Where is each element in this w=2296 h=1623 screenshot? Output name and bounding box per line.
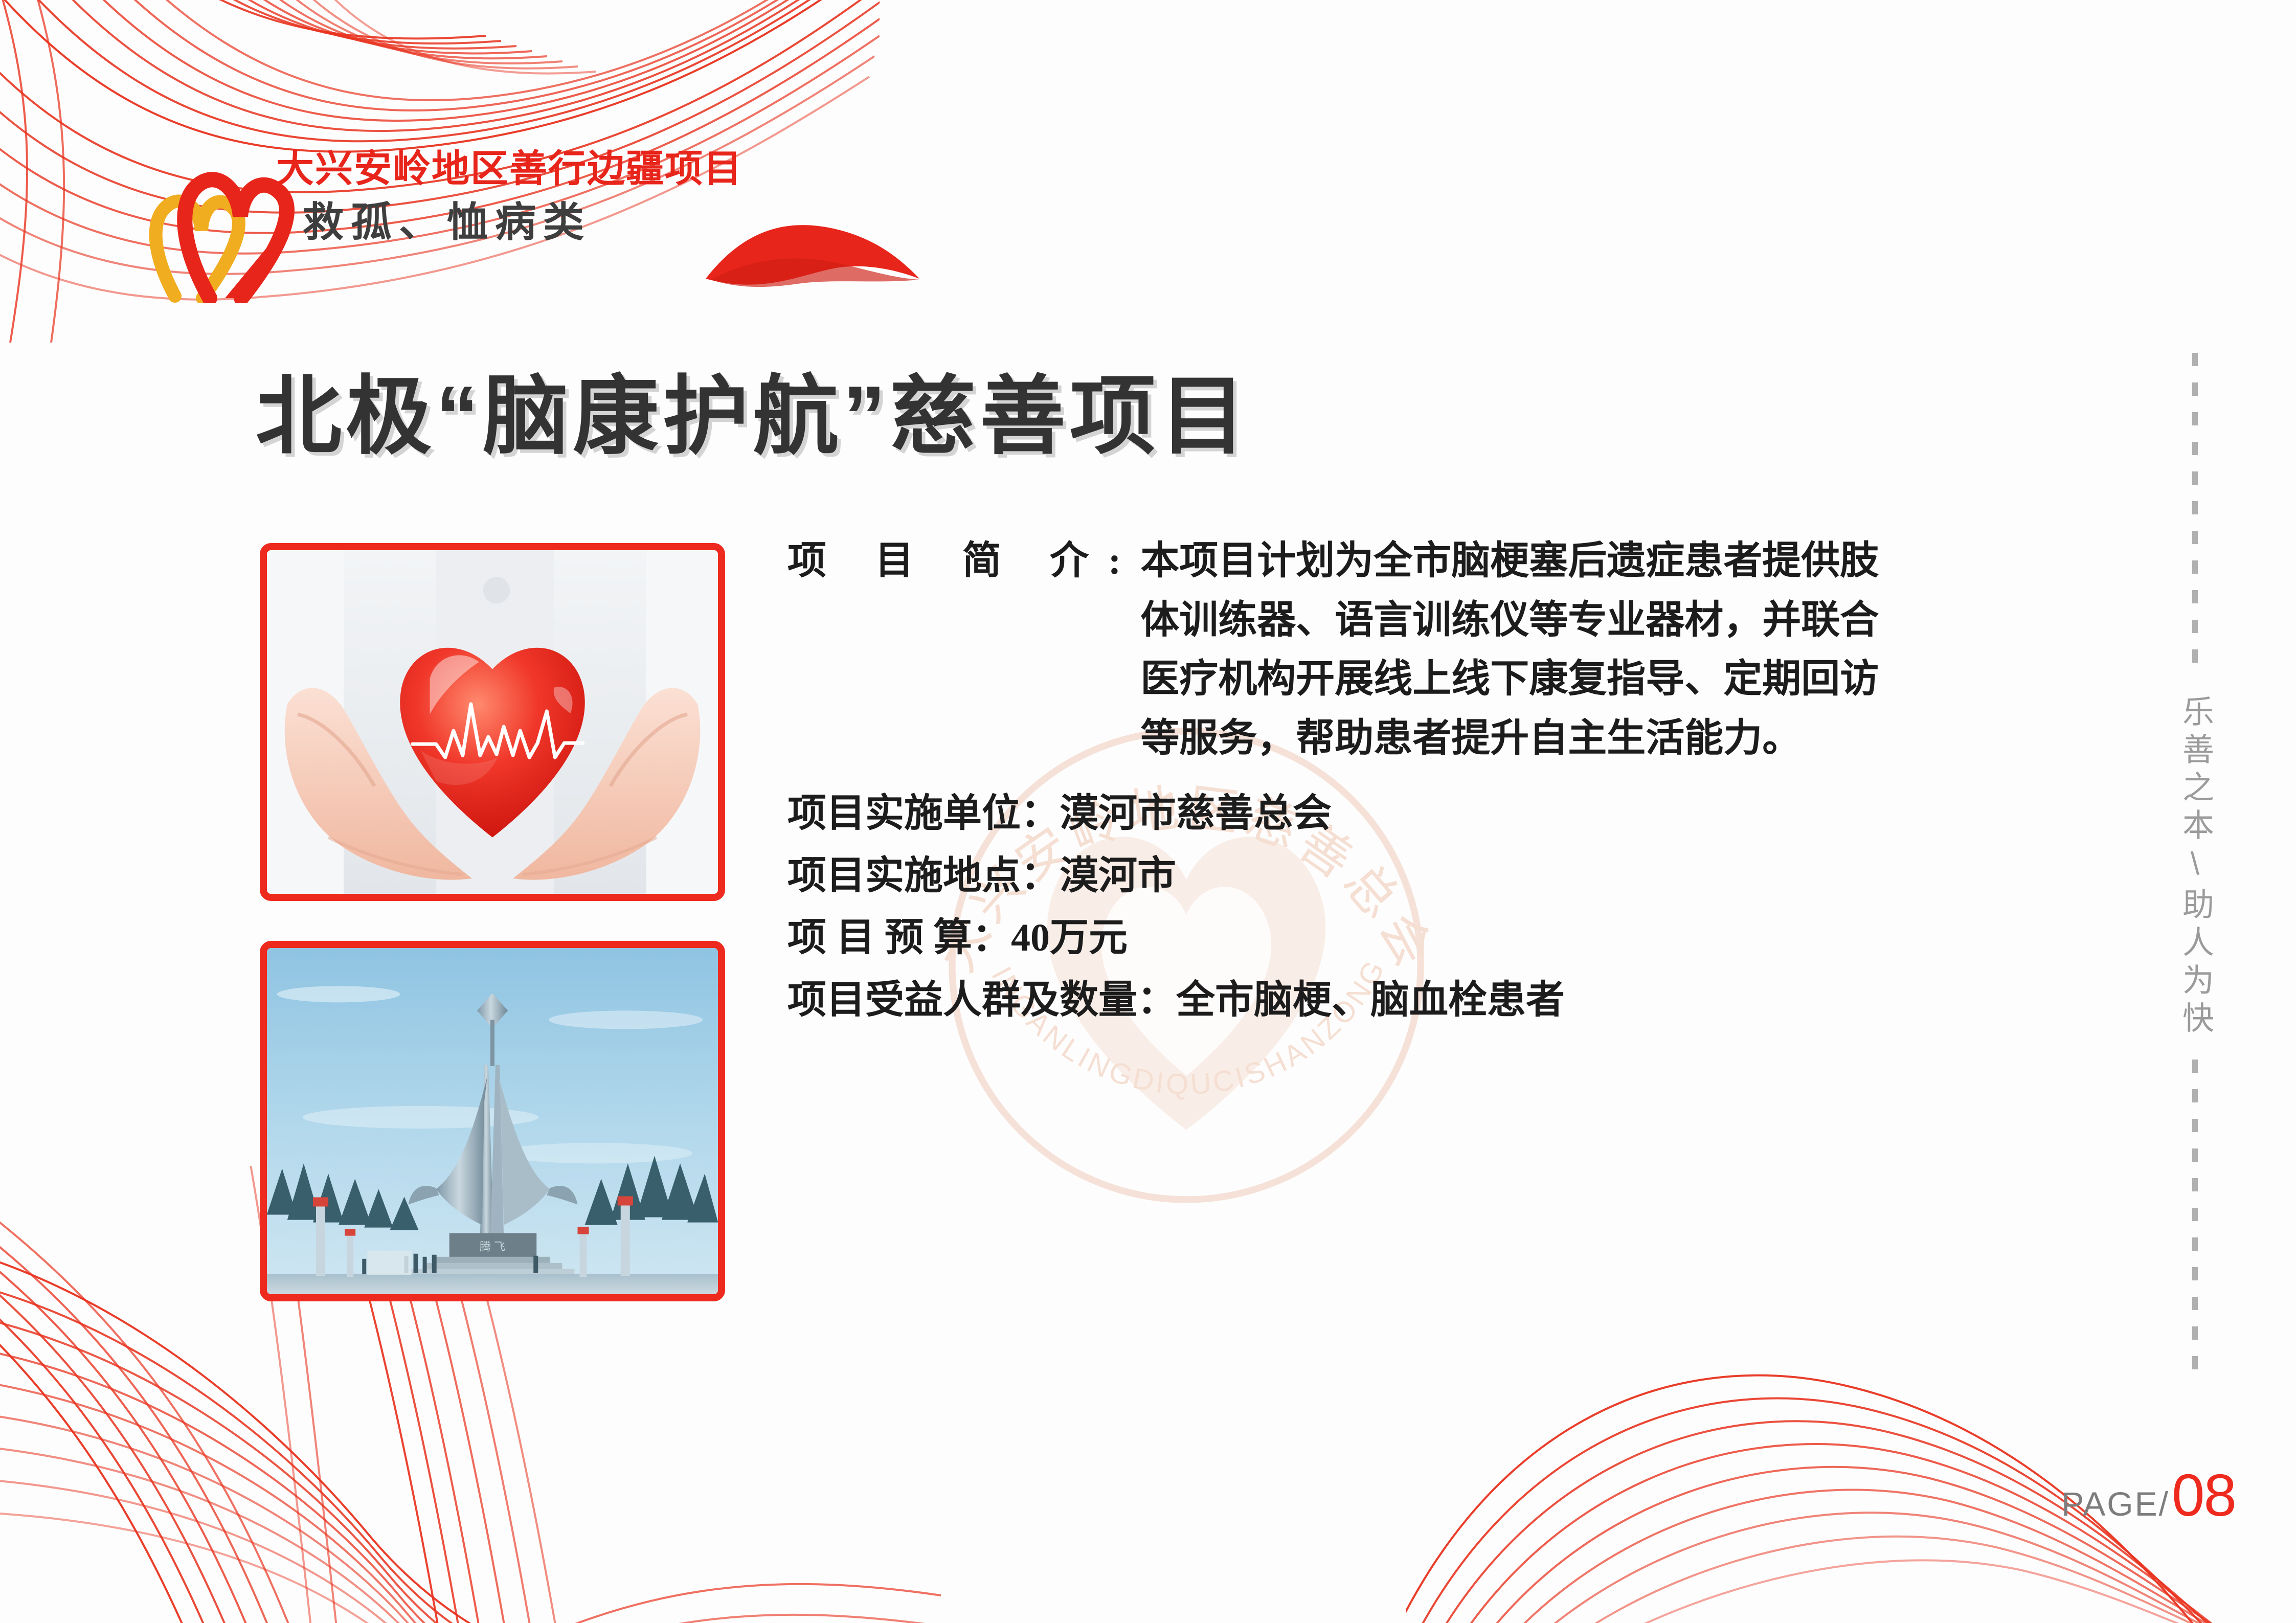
page-number-label: PAGE/ [2061,1484,2170,1523]
svg-text:腾 飞: 腾 飞 [480,1241,505,1253]
rail-dash-bottom [2192,1060,2198,1381]
beneficiaries-row: 项目受益人群及数量： 全市脑梗、脑血栓患者 [787,971,2097,1030]
rail-dash-top [2192,353,2198,674]
intro-line-4: 等服务，帮助患者提升自主生活能力。 [1140,709,2040,769]
implementation-location-value: 漠河市 [1060,847,1176,906]
implementation-location-label: 项目实施地点： [787,847,1060,906]
intro-label: 项 目 简 介: [787,532,1140,591]
red-ribbon-icon [706,202,920,299]
slide-page: 大兴安岭地区善行边疆项目 救孤、恤病类 北极“脑康护航”慈善项目 [0,0,2296,1623]
intro-row: 项 目 简 介: 本项目计划为全市脑梗塞后遗症患者提供肢 体训练器、语言训练仪等… [787,532,2097,768]
implementing-unit-value: 漠河市慈善总会 [1060,784,1332,844]
mohe-monument-photo: 腾 飞 [260,941,725,1301]
intro-line-2: 体训练器、语言训练仪等专业器材，并联合 [1140,591,2040,650]
budget-label: 项 目 预 算： [787,909,1011,968]
project-details: 项 目 简 介: 本项目计划为全市脑梗塞后遗症患者提供肢 体训练器、语言训练仪等… [787,532,2097,1033]
implementing-unit-label: 项目实施单位： [787,784,1060,844]
budget-value: 40万元 [1011,909,1128,968]
intro-line-3: 医疗机构开展线上线下康复指导、定期回访 [1140,650,2040,709]
brand-logo: 大兴安岭地区善行边疆项目 救孤、恤病类 [148,141,936,309]
intro-paragraph: 本项目计划为全市脑梗塞后遗症患者提供肢 体训练器、语言训练仪等专业器材，并联合 … [1140,532,2040,768]
implementation-location-row: 项目实施地点： 漠河市 [787,847,2097,906]
implementing-unit-row: 项目实施单位： 漠河市慈善总会 [787,784,2097,844]
logo-subtitle: 救孤、恤病类 [303,202,742,243]
hands-holding-heart-photo [260,543,725,901]
intro-line-1: 本项目计划为全市脑梗塞后遗症患者提供肢 [1140,532,2040,591]
beneficiaries-value: 全市脑梗、脑血栓患者 [1176,971,1565,1030]
rail-slogan: 乐善之本\助人为快 [2179,674,2211,1060]
page-number: PAGE/ 08 [2061,1469,2236,1523]
side-rail: 乐善之本\助人为快 [2185,353,2205,1381]
logo-title: 大兴安岭地区善行边疆项目 [276,150,742,188]
spacer [787,771,2097,784]
page-title: 北极“脑康护航”慈善项目 [256,367,1250,466]
budget-row: 项 目 预 算： 40万元 [787,909,2097,968]
page-number-value: 08 [2172,1469,2236,1522]
beneficiaries-label: 项目受益人群及数量： [787,971,1176,1030]
